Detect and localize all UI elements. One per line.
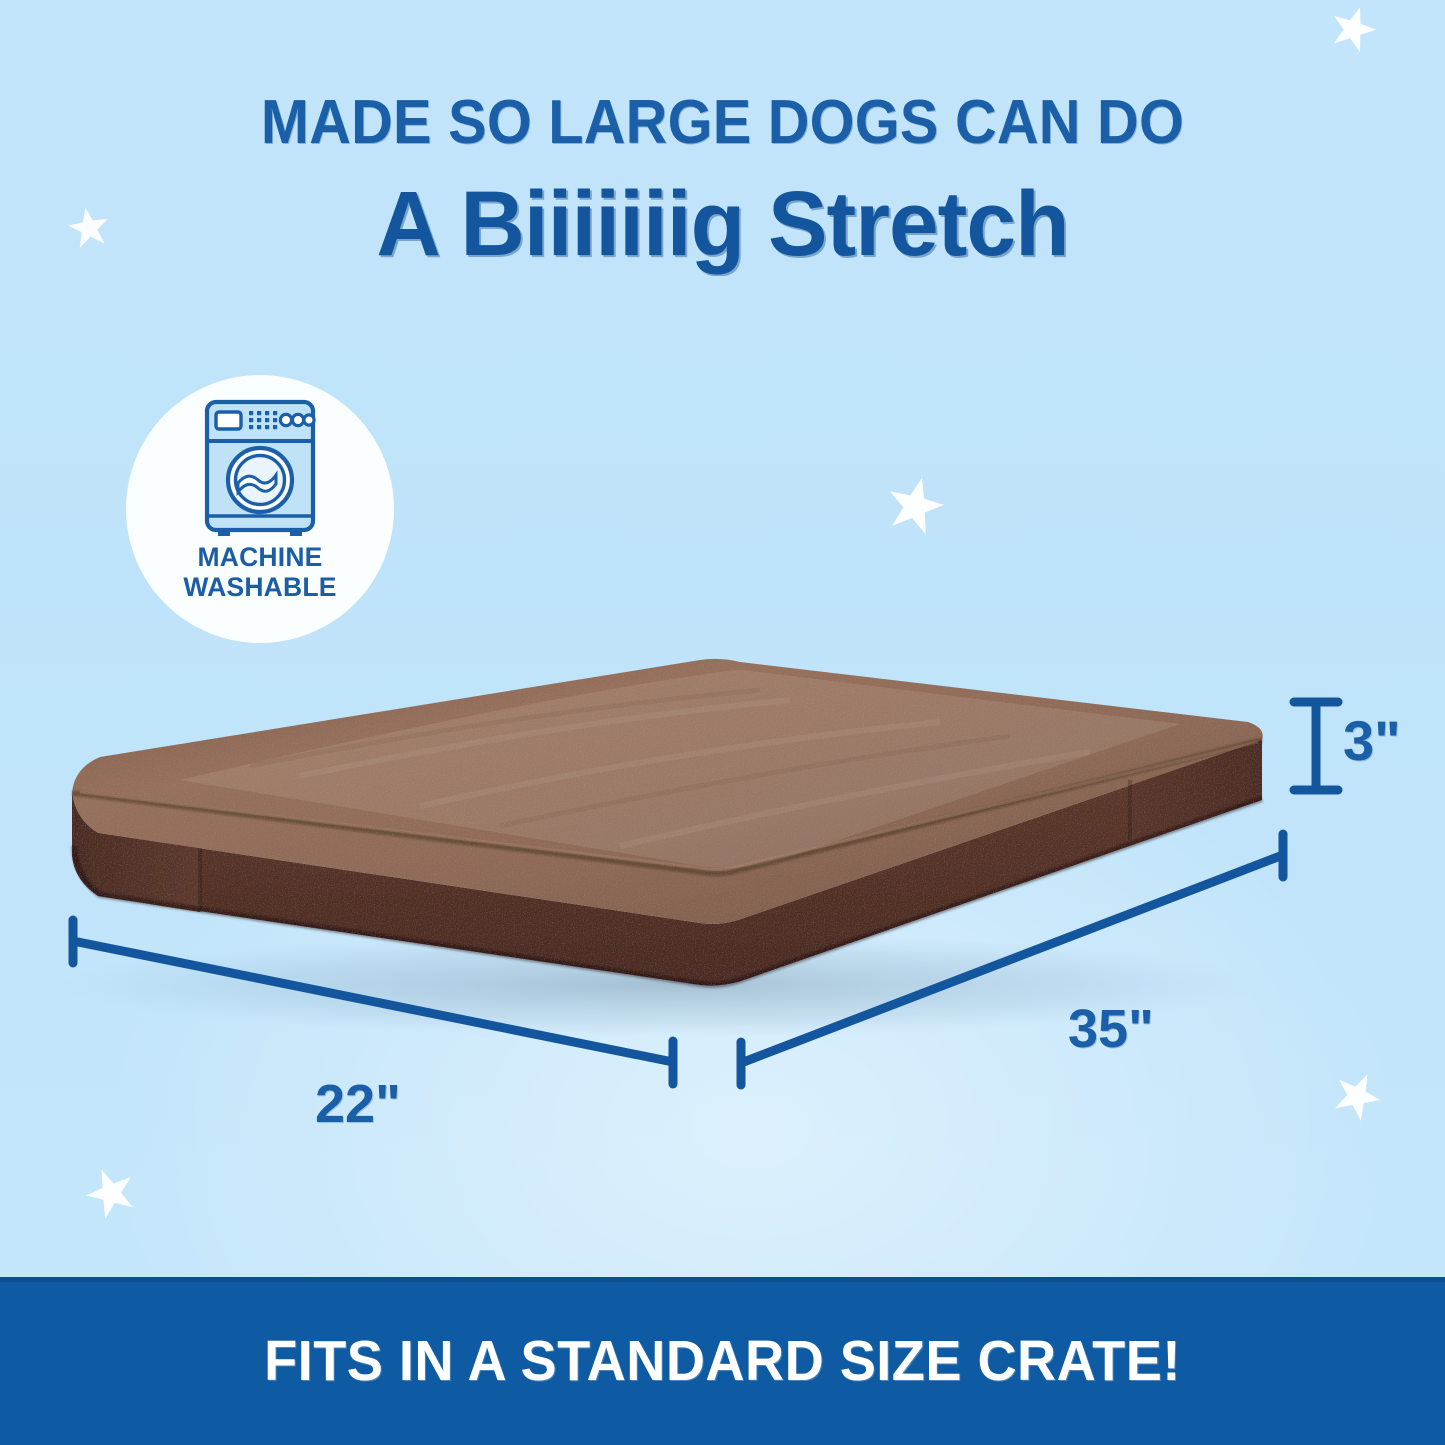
bottom-banner: FITS IN A STANDARD SIZE CRATE! bbox=[0, 1277, 1445, 1445]
dimension-label-length: 35" bbox=[1068, 1002, 1154, 1056]
badge-text-line1: MACHINE bbox=[183, 543, 336, 573]
dimension-label-width: 22" bbox=[315, 1077, 401, 1131]
banner-top-edge bbox=[0, 1277, 1445, 1282]
washing-machine-icon bbox=[202, 397, 318, 537]
dimension-label-height: 3" bbox=[1343, 713, 1401, 769]
infographic-canvas: MADE SO LARGE DOGS CAN DO A Biiiiiiig St… bbox=[0, 0, 1445, 1445]
badge-text: MACHINE WASHABLE bbox=[183, 543, 336, 602]
machine-washable-badge: MACHINE WASHABLE bbox=[126, 375, 394, 643]
badge-text-line2: WASHABLE bbox=[183, 573, 336, 603]
headline-secondary: A Biiiiiiig Stretch bbox=[22, 178, 1424, 270]
banner-text: FITS IN A STANDARD SIZE CRATE! bbox=[264, 1328, 1181, 1394]
headline-primary: MADE SO LARGE DOGS CAN DO bbox=[51, 92, 1395, 154]
